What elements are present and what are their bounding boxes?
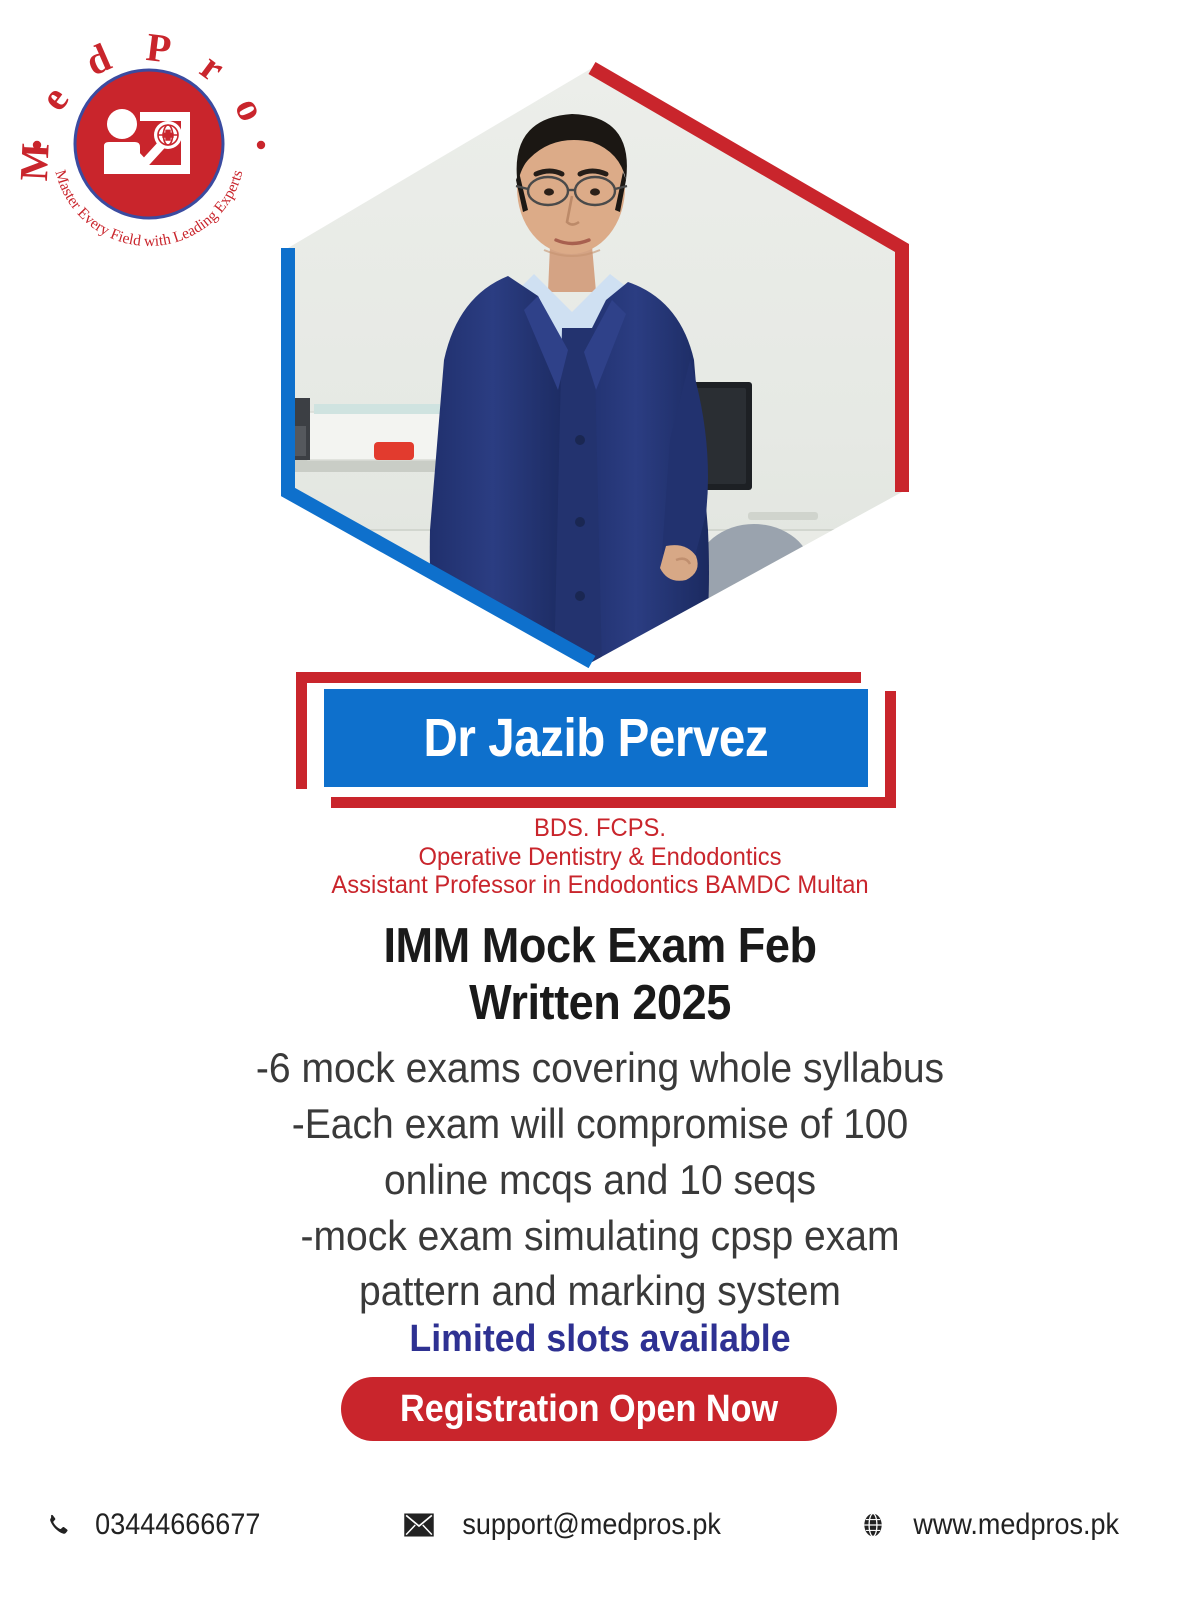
credential-line-3: Assistant Professor in Endodontics BAMDC… — [30, 871, 1170, 900]
headline-line-1: IMM Mock Exam Feb — [48, 918, 1152, 975]
photo-content — [262, 60, 922, 670]
speaker-photo — [262, 60, 922, 670]
speaker-name-banner: Dr Jazib Pervez — [296, 655, 896, 815]
logo-dot-left — [33, 141, 41, 149]
phone-number: 03444666677 — [95, 1508, 260, 1542]
detail-line-3: online mcqs and 10 seqs — [42, 1152, 1158, 1208]
banner-frame-bottom-left — [331, 797, 634, 808]
headline-line-2: Written 2025 — [48, 975, 1152, 1032]
availability-notice: Limited slots available — [36, 1318, 1164, 1361]
phone-icon — [42, 1510, 72, 1540]
detail-line-5: pattern and marking system — [42, 1263, 1158, 1319]
detail-line-4: -mock exam simulating cpsp exam — [42, 1208, 1158, 1264]
speaker-credentials: BDS. FCPS. Operative Dentistry & Endodon… — [30, 814, 1170, 900]
logo-circle — [75, 70, 223, 218]
credential-line-2: Operative Dentistry & Endodontics — [30, 843, 1170, 872]
registration-button-label: Registration Open Now — [400, 1377, 778, 1441]
detail-line-1: -6 mock exams covering whole syllabus — [42, 1040, 1158, 1096]
banner-frame-top-right — [558, 672, 861, 683]
credential-line-1: BDS. FCPS. — [30, 814, 1170, 843]
contact-website[interactable]: www.medpros.pk — [858, 1508, 1130, 1542]
contact-email[interactable]: support@medpros.pk — [404, 1508, 735, 1542]
name-plate: Dr Jazib Pervez — [320, 685, 872, 791]
brand-logo: M e d P r o s Master Every Field with Le… — [18, 14, 280, 264]
event-details: -6 mock exams covering whole syllabus -E… — [42, 1040, 1158, 1319]
presenter-head-icon — [107, 109, 137, 139]
event-headline: IMM Mock Exam Feb Written 2025 — [48, 918, 1152, 1032]
contact-phone[interactable]: 03444666677 — [42, 1508, 270, 1542]
detail-line-2: -Each exam will compromise of 100 — [42, 1096, 1158, 1152]
contact-footer: 03444666677 support@medpros.pk www.medpr… — [0, 1500, 1200, 1570]
globe-icon — [858, 1510, 888, 1540]
logo-svg: M e d P r o s Master Every Field with Le… — [18, 14, 280, 264]
envelope-icon — [404, 1510, 434, 1540]
website-url: www.medpros.pk — [913, 1508, 1119, 1542]
registration-button[interactable]: Registration Open Now — [341, 1377, 837, 1441]
speaker-photo-svg — [262, 60, 922, 670]
speaker-name: Dr Jazib Pervez — [424, 711, 769, 765]
email-address: support@medpros.pk — [462, 1508, 721, 1542]
